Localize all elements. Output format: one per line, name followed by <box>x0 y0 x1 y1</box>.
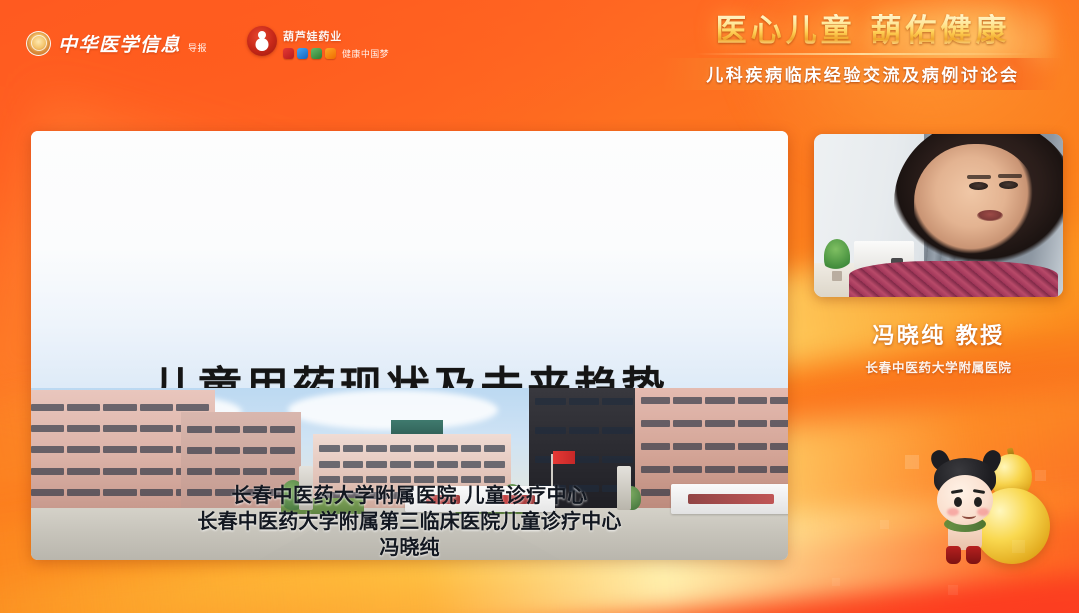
speaker-eyebrow <box>998 174 1022 178</box>
banner-subtitle-band: 儿科疾病临床经验交流及病例讨论会 <box>663 58 1063 90</box>
cma-logo: 中华医学信息 导报 <box>26 30 207 57</box>
speaker-eyebrow <box>967 175 991 179</box>
app-icon-red <box>283 48 294 59</box>
speaker-name: 冯晓纯 教授 <box>814 318 1063 350</box>
slide-line-1: 长春中医药大学附属医院 儿童诊疗中心 <box>31 483 788 509</box>
speaker-organization: 长春中医药大学附属医院 <box>814 357 1063 376</box>
bokeh-square <box>948 585 958 595</box>
banner-title: 医心儿童 葫佑健康 <box>663 14 1063 49</box>
speaker-clothing <box>849 261 1058 297</box>
speaker-mouth <box>977 210 1003 221</box>
logo-bar: 中华医学信息 导报 葫芦娃药业 健康中国梦 <box>26 26 389 60</box>
mascot-boot <box>946 546 961 564</box>
mascot-face <box>937 475 993 525</box>
calabash-boy-mascot <box>928 442 1064 574</box>
cma-seal-icon <box>26 31 51 56</box>
slide-subtitle-block: 长春中医药大学附属医院 儿童诊疗中心 长春中医药大学附属第三临床医院儿童诊疗中心… <box>31 483 788 560</box>
partner-app-icons: 健康中国梦 <box>283 47 389 60</box>
mascot-eyebrow <box>973 489 985 494</box>
speaker-eye <box>999 181 1018 189</box>
mascot-cheek <box>947 508 959 516</box>
speaker-face <box>914 144 1039 265</box>
campus-flag <box>553 451 575 464</box>
mascot-figure <box>928 458 1004 570</box>
app-icon-green <box>311 48 322 59</box>
app-icon-orange <box>325 48 336 59</box>
speaker-caption: 冯晓纯 教授 长春中医药大学附属医院 <box>814 318 1063 376</box>
gourd-badge-icon <box>247 26 277 56</box>
bokeh-square <box>880 520 889 529</box>
partner-logo-text: 葫芦娃药业 健康中国梦 <box>283 26 389 60</box>
slide-line-3: 冯晓纯 <box>31 534 788 560</box>
mascot-eye <box>954 497 962 507</box>
mascot-eyebrow <box>951 489 963 494</box>
speaker-eye <box>969 182 988 190</box>
mascot-smile <box>962 512 976 519</box>
cma-logo-suffix: 导报 <box>188 41 207 57</box>
bokeh-square <box>905 455 919 469</box>
video-plant <box>824 239 850 273</box>
partner-tagline: 健康中国梦 <box>342 47 389 60</box>
bokeh-square <box>832 578 840 586</box>
slide-line-2: 长春中医药大学附属第三临床医院儿童诊疗中心 <box>31 509 788 535</box>
speaker-video-tile[interactable] <box>814 134 1063 297</box>
app-icon-blue <box>297 48 308 59</box>
banner-divider <box>695 53 1031 55</box>
mascot-eye <box>974 497 982 507</box>
broadcast-stage: 中华医学信息 导报 葫芦娃药业 健康中国梦 医心儿童 葫佑健康 儿科疾病临床经验… <box>0 0 1079 613</box>
mascot-boot <box>966 546 981 564</box>
event-banner: 医心儿童 葫佑健康 儿科疾病临床经验交流及病例讨论会 <box>663 14 1063 90</box>
mascot-cheek <box>977 508 989 516</box>
partner-logo: 葫芦娃药业 健康中国梦 <box>247 26 389 60</box>
cma-wordmark: 中华医学信息 <box>58 30 181 57</box>
banner-subtitle: 儿科疾病临床经验交流及病例讨论会 <box>663 61 1063 86</box>
presentation-slide[interactable]: 儿童用药现状及未来趋势 长春中医药大学附属医院 儿童诊疗中心 长春中医药大学附属… <box>31 131 788 560</box>
partner-name: 葫芦娃药业 <box>283 28 389 44</box>
